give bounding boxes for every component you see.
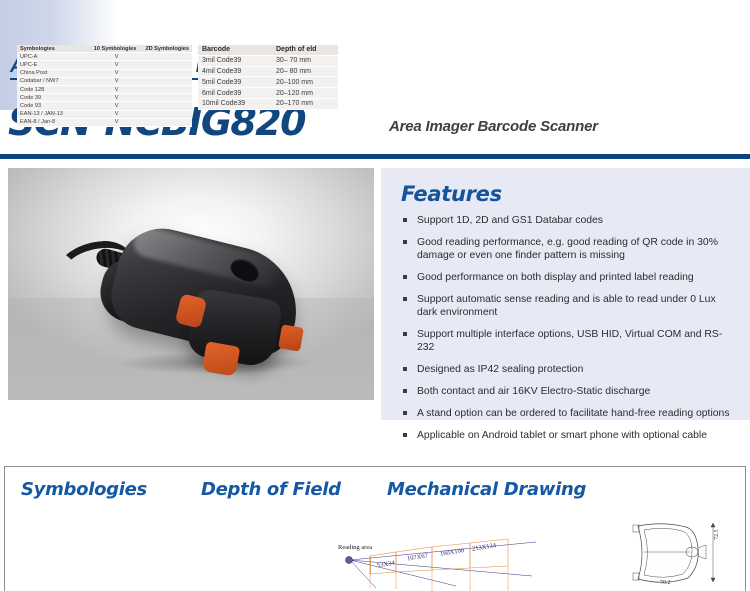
symbology-1d-support: V (91, 53, 143, 61)
feature-item: Support 1D, 2D and GS1 Databar codes (401, 214, 737, 227)
symbology-1d-support: V (91, 69, 143, 77)
depth-of-field-title: Depth of Field (201, 479, 341, 500)
table-row: 4mil Code3920– 80 mm (198, 66, 338, 77)
symbology-name: UPC-A (17, 53, 91, 61)
symbology-2d-support (142, 53, 192, 61)
symbology-2d-support (142, 102, 192, 110)
symbology-name: EAN-13 / JAN-13 (17, 110, 91, 118)
column-header: Depth of eld (272, 45, 338, 55)
feature-item: Designed as IP42 sealing protection (401, 363, 737, 376)
table-row: EAN-13 / JAN-13V (17, 110, 192, 118)
symbology-name: Codabar / NW7 (17, 77, 91, 85)
symbology-2d-support (142, 110, 192, 118)
symbology-2d-support (142, 69, 192, 77)
column-header: 10 Symbologies (91, 45, 143, 53)
table-row: 10mil Code3920–170 mm (198, 98, 338, 109)
barcode-type: 6mil Code39 (198, 88, 272, 99)
table-row: EAN-8 / Jan-8V (17, 118, 192, 126)
product-photo (8, 168, 374, 400)
feature-item: Good reading performance, e.g. good read… (401, 236, 737, 262)
feature-item: Support multiple interface options, USB … (401, 328, 737, 354)
table-header-row: Symbologies 10 Symbologies 2D Symbologie… (17, 45, 192, 53)
symbologies-table: Symbologies 10 Symbologies 2D Symbologie… (17, 45, 192, 127)
table-row: 5mil Code3920–100 mm (198, 77, 338, 88)
symbology-1d-support: V (91, 85, 143, 93)
symbology-1d-support: V (91, 110, 143, 118)
depth-value: 20–120 mm (272, 88, 338, 99)
table-row: Codabar / NW7V (17, 77, 192, 85)
symbology-1d-support: V (91, 94, 143, 102)
features-panel: Features Support 1D, 2D and GS1 Databar … (381, 168, 750, 420)
table-row: UPC-EV (17, 61, 192, 69)
depth-value: 30– 70 mm (272, 55, 338, 66)
barcode-type: 5mil Code39 (198, 77, 272, 88)
barcode-type: 3mil Code39 (198, 55, 272, 66)
barcode-type: 10mil Code39 (198, 98, 272, 109)
column-header: Barcode (198, 45, 272, 55)
datasheet-page: Application Solution Kit SCN-NCBIG820 Ar… (0, 0, 750, 591)
table-row: Code 39V (17, 94, 192, 102)
table-row: 3mil Code3930– 70 mm (198, 55, 338, 66)
symbology-1d-support: V (91, 102, 143, 110)
product-subtitle: Area Imager Barcode Scanner (389, 118, 598, 135)
symbology-name: China Post (17, 69, 91, 77)
depth-value: 20–170 mm (272, 98, 338, 109)
depth-value: 20– 80 mm (272, 66, 338, 77)
symbology-1d-support: V (91, 118, 143, 126)
table-row: Code 93V (17, 102, 192, 110)
mechanical-height-dimension: 72.5 (714, 530, 720, 541)
main-content: Features Support 1D, 2D and GS1 Databar … (0, 158, 750, 436)
table-header-row: Barcode Depth of eld (198, 45, 338, 55)
barcode-type: 4mil Code39 (198, 66, 272, 77)
symbology-name: EAN-8 / Jan-8 (17, 118, 91, 126)
column-header: 2D Symbologies (142, 45, 192, 53)
symbology-name: UPC-E (17, 61, 91, 69)
symbology-2d-support (142, 118, 192, 126)
feature-item: A stand option can be ordered to facilit… (401, 407, 737, 420)
table-row: 6mil Code3920–120 mm (198, 88, 338, 99)
symbology-name: Code 93 (17, 102, 91, 110)
symbology-2d-support (142, 85, 192, 93)
symbology-1d-support: V (91, 77, 143, 85)
features-list: Support 1D, 2D and GS1 Databar codes Goo… (401, 214, 737, 451)
symbology-2d-support (142, 61, 192, 69)
symbology-1d-support: V (91, 61, 143, 69)
feature-item: Applicable on Android tablet or smart ph… (401, 429, 737, 442)
scanner-foot-front (202, 341, 241, 376)
depth-of-field-table: Barcode Depth of eld 3mil Code3930– 70 m… (198, 45, 338, 110)
scanner-foot-rear (278, 324, 304, 351)
symbologies-title: Symbologies (21, 479, 147, 500)
table-row: Code 128V (17, 85, 192, 93)
depth-value: 20–100 mm (272, 77, 338, 88)
symbology-2d-support (142, 94, 192, 102)
mechanical-drawing-title: Mechanical Drawing (387, 479, 586, 500)
symbology-name: Code 39 (17, 94, 91, 102)
table-row: China PostV (17, 69, 192, 77)
features-title: Features (401, 182, 502, 206)
table-row: UPC-AV (17, 53, 192, 61)
symbology-name: Code 128 (17, 85, 91, 93)
symbology-2d-support (142, 77, 192, 85)
feature-item: Good performance on both display and pri… (401, 271, 737, 284)
column-header: Symbologies (17, 45, 91, 53)
mechanical-width-dimension: 70.2 (660, 580, 671, 586)
feature-item: Support automatic sense reading and is a… (401, 293, 737, 319)
feature-item: Both contact and air 16KV Electro-Static… (401, 385, 737, 398)
reading-area-diagram (336, 536, 546, 591)
